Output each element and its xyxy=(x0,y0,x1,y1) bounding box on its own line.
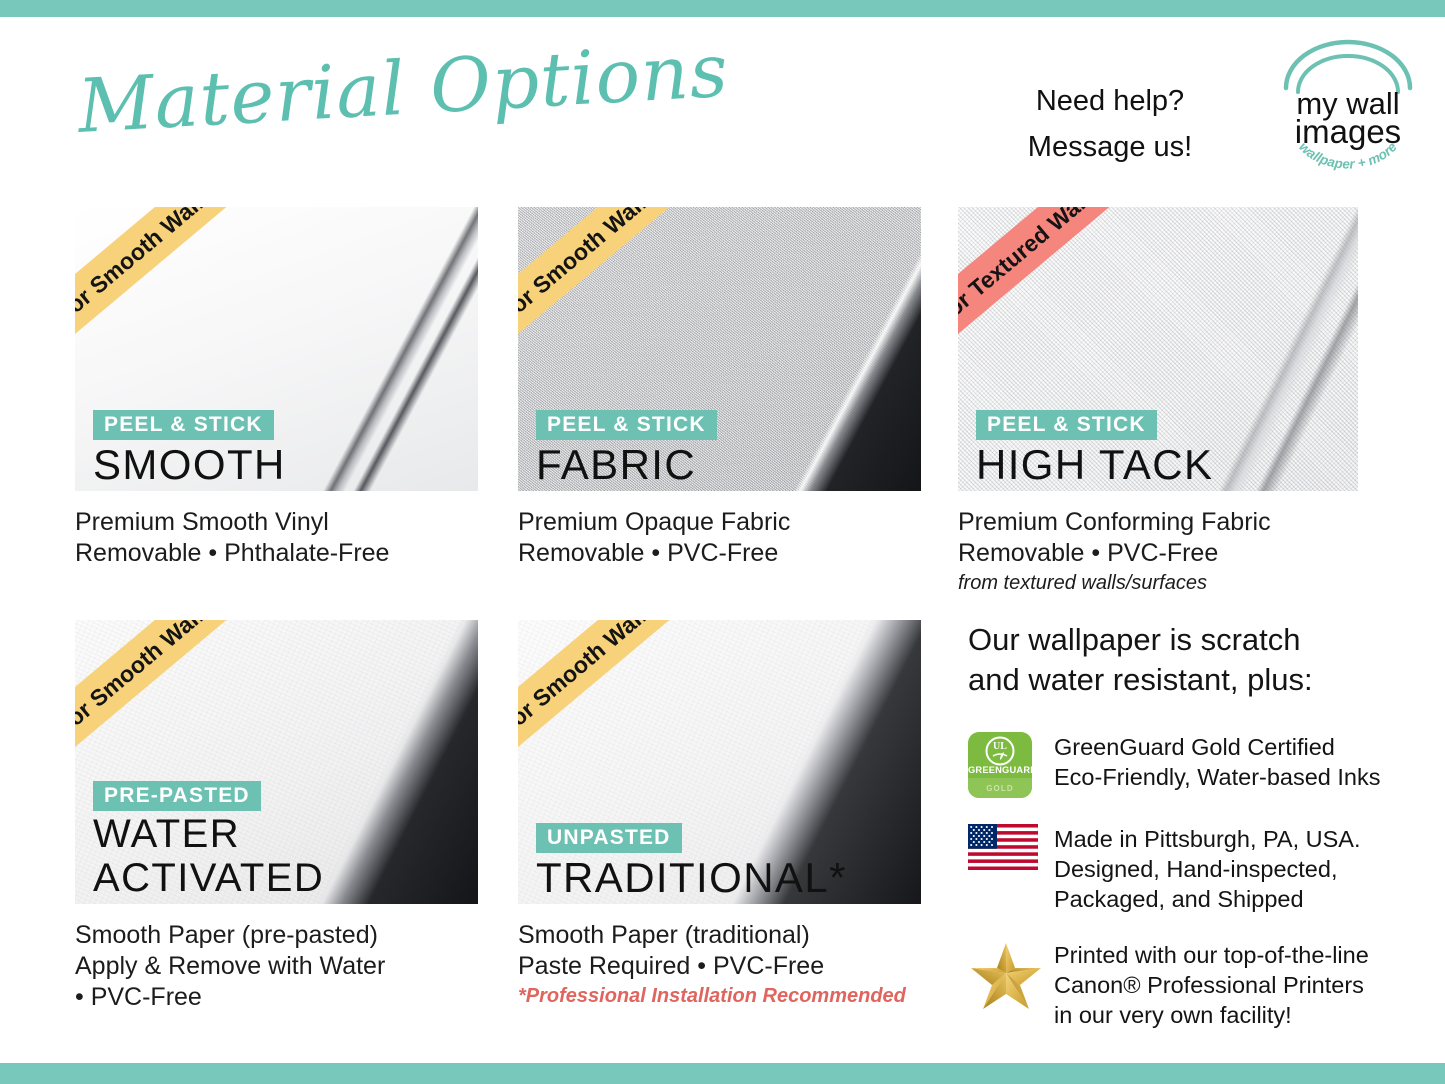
badge-peel-and-stick: PEEL & STICK xyxy=(93,410,274,440)
desc-line-3: • PVC-Free xyxy=(75,982,478,1013)
card-note: from textured walls/surfaces xyxy=(958,570,1358,596)
card-photo: for Smooth Walls PEEL & STICK FABRIC xyxy=(518,207,921,491)
material-card-water-activated[interactable]: for Smooth Walls PRE-PASTED WATER ACTIVA… xyxy=(75,620,478,1013)
usa-flag-icon xyxy=(968,824,1038,870)
card-caption: PEEL & STICK FABRIC xyxy=(536,410,915,487)
help-line-1: Need help? xyxy=(960,78,1260,124)
desc-line-2: Paste Required • PVC-Free xyxy=(518,951,921,982)
card-caption: UNPASTED TRADITIONAL* xyxy=(536,823,915,900)
feature-item-greenguard: UL GREENGUARD GOLD GreenGuard Gold Certi… xyxy=(968,730,1398,798)
material-card-traditional[interactable]: for Smooth Walls UNPASTED TRADITIONAL* S… xyxy=(518,620,921,1009)
desc-line-2: Apply & Remove with Water xyxy=(75,951,478,982)
badge-unpasted: UNPASTED xyxy=(536,823,682,853)
card-photo: for Smooth Walls PEEL & STICK SMOOTH xyxy=(75,207,478,491)
card-caption: PEEL & STICK HIGH TACK xyxy=(976,410,1352,487)
bottom-accent-bar xyxy=(0,1063,1445,1084)
card-title: SMOOTH xyxy=(93,443,472,487)
brand-logo[interactable]: my wall images wallpaper + more xyxy=(1268,36,1428,171)
desc-line-1: Smooth Paper (traditional) xyxy=(518,920,921,951)
feature-item-canon-printers: Printed with our top-of-the-line Canon® … xyxy=(968,938,1398,1030)
feature-line-1: GreenGuard Gold Certified xyxy=(1054,732,1381,762)
feature-line-2: Eco-Friendly, Water-based Inks xyxy=(1054,762,1381,792)
top-accent-bar xyxy=(0,0,1445,17)
greenguard-gold-word: GOLD xyxy=(968,784,1032,793)
card-title: TRADITIONAL* xyxy=(536,856,915,900)
card-title-line-1: WATER xyxy=(93,814,472,856)
feature-text: GreenGuard Gold Certified Eco-Friendly, … xyxy=(1054,730,1381,792)
desc-line-1: Premium Smooth Vinyl xyxy=(75,507,478,538)
page-title: Material Options xyxy=(75,17,700,161)
desc-line-1: Premium Opaque Fabric xyxy=(518,507,921,538)
features-heading-line-2: and water resistant, plus: xyxy=(968,660,1398,700)
greenguard-word: GREENGUARD xyxy=(968,765,1032,775)
card-title-line-2: ACTIVATED xyxy=(93,858,472,900)
feature-text: Printed with our top-of-the-line Canon® … xyxy=(1054,938,1369,1030)
feature-icon-slot xyxy=(968,822,1054,870)
feature-icon-slot xyxy=(968,938,1054,1012)
desc-line-2: Removable • PVC-Free xyxy=(958,538,1358,569)
help-prompt: Need help? Message us! xyxy=(960,78,1260,170)
card-title: HIGH TACK xyxy=(976,443,1352,487)
card-note: *Professional Installation Recommended xyxy=(518,983,921,1009)
card-photo: for Smooth Walls UNPASTED TRADITIONAL* xyxy=(518,620,921,904)
feature-line-2: Designed, Hand-inspected, xyxy=(1054,854,1361,884)
material-card-high-tack[interactable]: for Textured Walls PEEL & STICK HIGH TAC… xyxy=(958,207,1358,596)
gold-star-icon xyxy=(968,940,1044,1012)
help-line-2: Message us! xyxy=(960,124,1260,170)
card-caption: PRE-PASTED WATER ACTIVATED xyxy=(93,781,472,900)
features-heading-line-1: Our wallpaper is scratch xyxy=(968,620,1398,660)
ul-leaf-mark-icon: UL xyxy=(968,734,1032,768)
greenguard-gold-badge-icon: UL GREENGUARD GOLD xyxy=(968,732,1032,798)
material-card-smooth[interactable]: for Smooth Walls PEEL & STICK SMOOTH Pre… xyxy=(75,207,478,569)
logo-artwork: my wall images wallpaper + more xyxy=(1268,36,1428,171)
feature-item-made-in-usa: Made in Pittsburgh, PA, USA. Designed, H… xyxy=(968,822,1398,914)
feature-line-2: Canon® Professional Printers xyxy=(1054,970,1369,1000)
feature-line-3: Packaged, and Shipped xyxy=(1054,884,1361,914)
feature-line-1: Made in Pittsburgh, PA, USA. xyxy=(1054,824,1361,854)
badge-pre-pasted: PRE-PASTED xyxy=(93,781,261,811)
card-title: FABRIC xyxy=(536,443,915,487)
badge-peel-and-stick: PEEL & STICK xyxy=(536,410,717,440)
desc-line-1: Premium Conforming Fabric xyxy=(958,507,1358,538)
card-description: Premium Conforming Fabric Removable • PV… xyxy=(958,507,1358,596)
card-description: Smooth Paper (pre-pasted) Apply & Remove… xyxy=(75,920,478,1013)
desc-line-2: Removable • Phthalate-Free xyxy=(75,538,478,569)
card-description: Premium Opaque Fabric Removable • PVC-Fr… xyxy=(518,507,921,569)
features-heading: Our wallpaper is scratch and water resis… xyxy=(968,620,1398,700)
badge-peel-and-stick: PEEL & STICK xyxy=(976,410,1157,440)
desc-line-1: Smooth Paper (pre-pasted) xyxy=(75,920,478,951)
card-description: Smooth Paper (traditional) Paste Require… xyxy=(518,920,921,1009)
desc-line-2: Removable • PVC-Free xyxy=(518,538,921,569)
feature-icon-slot: UL GREENGUARD GOLD xyxy=(968,730,1054,798)
card-description: Premium Smooth Vinyl Removable • Phthala… xyxy=(75,507,478,569)
material-card-fabric[interactable]: for Smooth Walls PEEL & STICK FABRIC Pre… xyxy=(518,207,921,569)
card-caption: PEEL & STICK SMOOTH xyxy=(93,410,472,487)
feature-line-3: in our very own facility! xyxy=(1054,1000,1369,1030)
card-photo: for Textured Walls PEEL & STICK HIGH TAC… xyxy=(958,207,1358,491)
feature-text: Made in Pittsburgh, PA, USA. Designed, H… xyxy=(1054,822,1361,914)
card-photo: for Smooth Walls PRE-PASTED WATER ACTIVA… xyxy=(75,620,478,904)
features-section: Our wallpaper is scratch and water resis… xyxy=(968,620,1398,1054)
feature-line-1: Printed with our top-of-the-line xyxy=(1054,940,1369,970)
svg-text:UL: UL xyxy=(993,741,1007,752)
